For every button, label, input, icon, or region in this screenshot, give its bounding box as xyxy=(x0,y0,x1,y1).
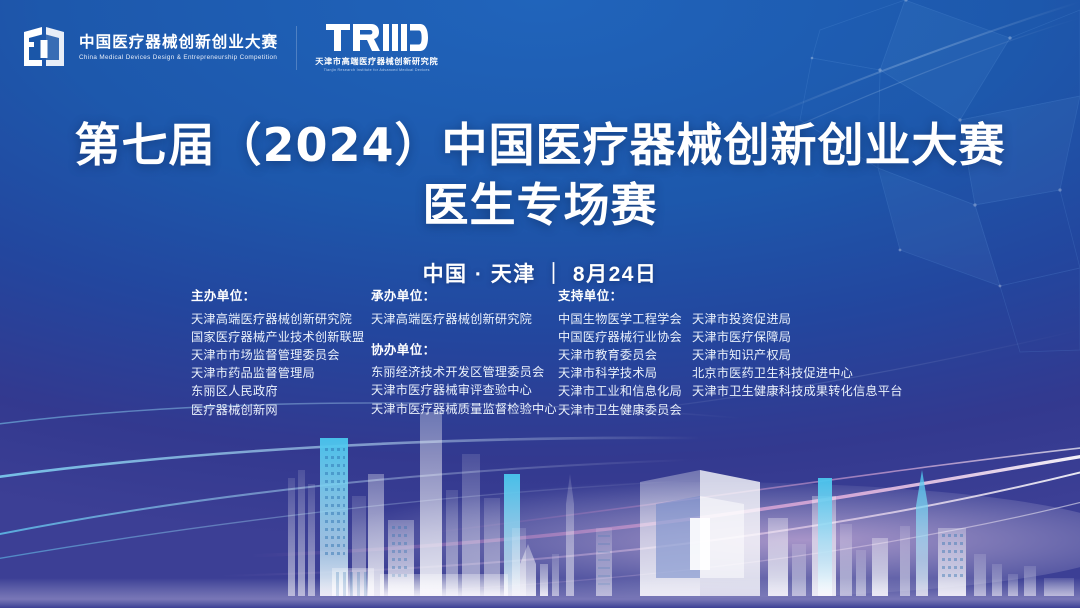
title-line-2: 医生专场赛 xyxy=(0,178,1080,232)
organizer-item: 天津市投资促进局 xyxy=(692,310,903,328)
organizer-item: 天津市教育委员会 xyxy=(558,346,682,364)
organizer-item: 天津市科学技术局 xyxy=(558,364,682,382)
header-logos: 中国医疗器械创新创业大赛 China Medical Devices Desig… xyxy=(18,22,438,74)
group-heading: 支持单位： xyxy=(558,290,682,303)
organizer-item: 天津市卫生健康科技成果转化信息平台 xyxy=(692,382,903,400)
organizer-item: 天津市卫生健康委员会 xyxy=(558,401,682,419)
poster-title: 第七届（2024）中国医疗器械创新创业大赛 医生专场赛 xyxy=(0,118,1080,233)
trimd-wordmark-icon xyxy=(325,23,429,53)
organizer-item: 天津市知识产权局 xyxy=(692,346,903,364)
organizer-item: 中国医疗器械行业协会 xyxy=(558,328,682,346)
organizer-column-undertaker: 承办单位： 天津高端医疗器械创新研究院 协办单位： 东丽经济技术开发区管理委员会… xyxy=(371,290,557,418)
organizer-column-supporters-a: 支持单位： 中国生物医学工程学会 中国医疗器械行业协会 天津市教育委员会 天津市… xyxy=(558,290,682,419)
organizer-item: 天津市医疗器械审评查验中心 xyxy=(371,381,557,399)
competition-logo[interactable]: 中国医疗器械创新创业大赛 China Medical Devices Desig… xyxy=(18,22,278,74)
organizer-item: 天津市医疗保障局 xyxy=(692,328,903,346)
group-heading: 协办单位： xyxy=(371,344,557,357)
organizer-item: 东丽区人民政府 xyxy=(191,382,364,400)
poster-canvas: 中国医疗器械创新创业大赛 China Medical Devices Desig… xyxy=(0,0,1080,608)
organizer-item: 中国生物医学工程学会 xyxy=(558,310,682,328)
institute-name-en: Tianjin Research Institute for Advanced … xyxy=(324,69,430,73)
title-line-1: 第七届（2024）中国医疗器械创新创业大赛 xyxy=(0,118,1080,172)
group-heading: 承办单位： xyxy=(371,290,557,303)
competition-name-zh: 中国医疗器械创新创业大赛 xyxy=(79,35,278,51)
organizer-item: 天津市医疗器械质量监督检验中心 xyxy=(371,400,557,418)
organizer-column-host: 主办单位： 天津高端医疗器械创新研究院 国家医疗器械产业技术创新联盟 天津市市场… xyxy=(191,290,364,419)
logo-divider xyxy=(296,26,297,70)
event-location-date: 中国 · 天津 ｜ 8月24日 xyxy=(0,258,1080,288)
organizer-item: 天津市工业和信息化局 xyxy=(558,382,682,400)
group-spacer xyxy=(371,328,557,344)
group-heading xyxy=(692,290,903,303)
competition-name-en: China Medical Devices Design & Entrepren… xyxy=(79,55,282,61)
organizer-item: 天津市药品监督管理局 xyxy=(191,364,364,382)
organizer-item: 国家医疗器械产业技术创新联盟 xyxy=(191,328,364,346)
institute-name-zh: 天津市高端医疗器械创新研究院 xyxy=(315,58,438,66)
organizer-item: 天津市市场监督管理委员会 xyxy=(191,346,364,364)
organizer-item: 天津高端医疗器械创新研究院 xyxy=(371,310,557,328)
group-heading: 主办单位： xyxy=(191,290,364,303)
organizer-item: 天津高端医疗器械创新研究院 xyxy=(191,310,364,328)
organizer-item: 东丽经济技术开发区管理委员会 xyxy=(371,363,557,381)
institute-logo[interactable]: 天津市高端医疗器械创新研究院 Tianjin Research Institut… xyxy=(315,23,438,73)
organizer-item: 医疗器械创新网 xyxy=(191,401,364,419)
open-door-book-icon xyxy=(18,22,70,74)
organizer-column-supporters-b: 天津市投资促进局 天津市医疗保障局 天津市知识产权局 北京市医药卫生科技促进中心… xyxy=(692,290,903,401)
organizer-item: 北京市医药卫生科技促进中心 xyxy=(692,364,903,382)
organizer-lists: 主办单位： 天津高端医疗器械创新研究院 国家医疗器械产业技术创新联盟 天津市市场… xyxy=(0,290,1080,430)
